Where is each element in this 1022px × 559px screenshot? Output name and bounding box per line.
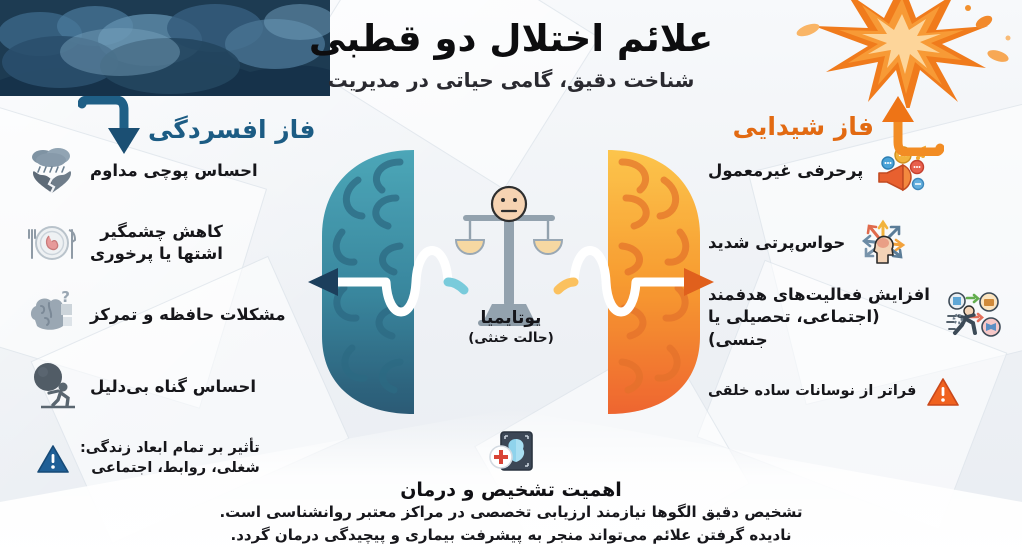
phase-header-depression: فاز افسردگی: [78, 96, 315, 162]
symptom-item[interactable]: کاهش چشمگیر اشتها یا پرخوری: [14, 212, 314, 274]
symptom-item[interactable]: احساس گناه بی‌دلیل: [14, 356, 314, 418]
symptom-label: پرحرفی غیرمعمول: [708, 160, 863, 182]
euthymia-label-block: یوتایمیا (حالت خنثی): [0, 308, 1022, 346]
curved-up-arrow-icon: [880, 92, 944, 160]
symptom-label: احساس گناه بی‌دلیل: [90, 376, 256, 398]
footer-line-1: تشخیص دقیق الگوها نیازمند ارزیابی تخصصی …: [0, 501, 1022, 524]
footer-line-2: نادیده گرفتن علائم می‌تواند منجر به پیشر…: [0, 524, 1022, 547]
rain-cloud-broken-heart-icon: [24, 143, 80, 199]
orange-warning-triangle-icon: [926, 375, 960, 409]
footer-block: اهمیت تشخیص و درمان تشخیص دقیق الگوها نی…: [0, 429, 1022, 548]
infographic-poster: علائم اختلال دو قطبی شناخت دقیق، گامی حی…: [0, 0, 1022, 559]
phase-label-depression: فاز افسردگی: [148, 115, 315, 144]
page-title: علائم اختلال دو قطبی: [0, 16, 1022, 62]
curved-down-arrow-icon: [78, 96, 142, 162]
head-scattered-arrows-icon: [855, 215, 911, 271]
symptom-note-mania[interactable]: فراتر از نوسانات ساده خلقی: [708, 361, 1008, 423]
symptom-item[interactable]: حواس‌پرتی شدید: [708, 212, 1008, 274]
balance-scale-neutral-face-icon: [456, 187, 562, 326]
symptom-label: احساس پوچی مداوم: [90, 160, 258, 182]
symptom-column-mania: پرحرفی غیرمعمول: [708, 140, 1008, 433]
footer-title: اهمیت تشخیص و درمان: [0, 479, 1022, 501]
brain-diagram: [296, 136, 726, 426]
page-subtitle: شناخت دقیق، گامی حیاتی در مدیریت: [0, 68, 1022, 92]
phase-header-mania: فاز شیدایی: [733, 92, 944, 160]
svg-text:?: ?: [61, 288, 70, 306]
symptom-label: کاهش چشمگیر اشتها یا پرخوری: [90, 221, 223, 266]
brain-scan-medical-cross-icon: [488, 429, 534, 475]
euthymia-name: یوتایمیا: [0, 308, 1022, 328]
phase-label-mania: فاز شیدایی: [733, 112, 874, 141]
person-carrying-boulder-icon: [24, 359, 80, 415]
plate-stomach-icon: [24, 215, 80, 271]
symptom-note-label: فراتر از نوسانات ساده خلقی: [708, 382, 916, 402]
symptom-label: حواس‌پرتی شدید: [708, 232, 845, 254]
title-block: علائم اختلال دو قطبی شناخت دقیق، گامی حی…: [0, 16, 1022, 92]
euthymia-sublabel: (حالت خنثی): [0, 330, 1022, 346]
